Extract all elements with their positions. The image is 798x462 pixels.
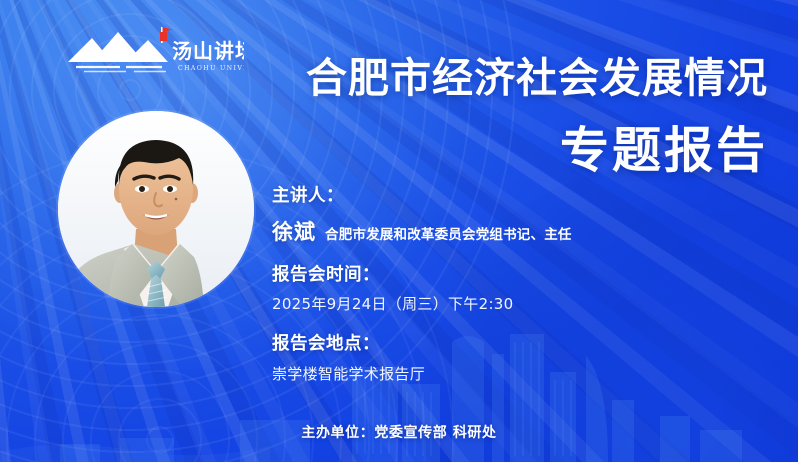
speaker-name: 徐斌 <box>272 222 316 243</box>
time-label: 报告会时间： <box>272 267 572 285</box>
headline-line-2: 专题报告 <box>0 126 768 175</box>
headline-line-1: 合肥市经济社会发展情况 <box>0 58 768 99</box>
organizer-text: 主办单位：党委宣传部 科研处 <box>301 422 496 442</box>
footer-bar: 主办单位：党委宣传部 科研处 <box>0 422 798 442</box>
speaker-label: 主讲人： <box>272 188 572 206</box>
red-flag-icon <box>160 27 172 43</box>
place-label: 报告会地点： <box>272 336 572 354</box>
speaker-title: 合肥市发展和改革委员会党组书记、主任 <box>325 229 572 243</box>
headline-block: 合肥市经济社会发展情况 专题报告 <box>0 58 768 175</box>
time-value: 2025年9月24日（周三）下午2:30 <box>272 297 572 312</box>
place-value: 崇学楼智能学术报告厅 <box>272 367 572 382</box>
poster-canvas: 汤山讲坛 CHAOHU UNIVERSITY <box>0 0 798 462</box>
speaker-row: 徐斌 合肥市发展和改革委员会党组书记、主任 <box>272 222 572 243</box>
event-details: 主讲人： 徐斌 合肥市发展和改革委员会党组书记、主任 报告会时间： 2025年9… <box>272 188 572 382</box>
